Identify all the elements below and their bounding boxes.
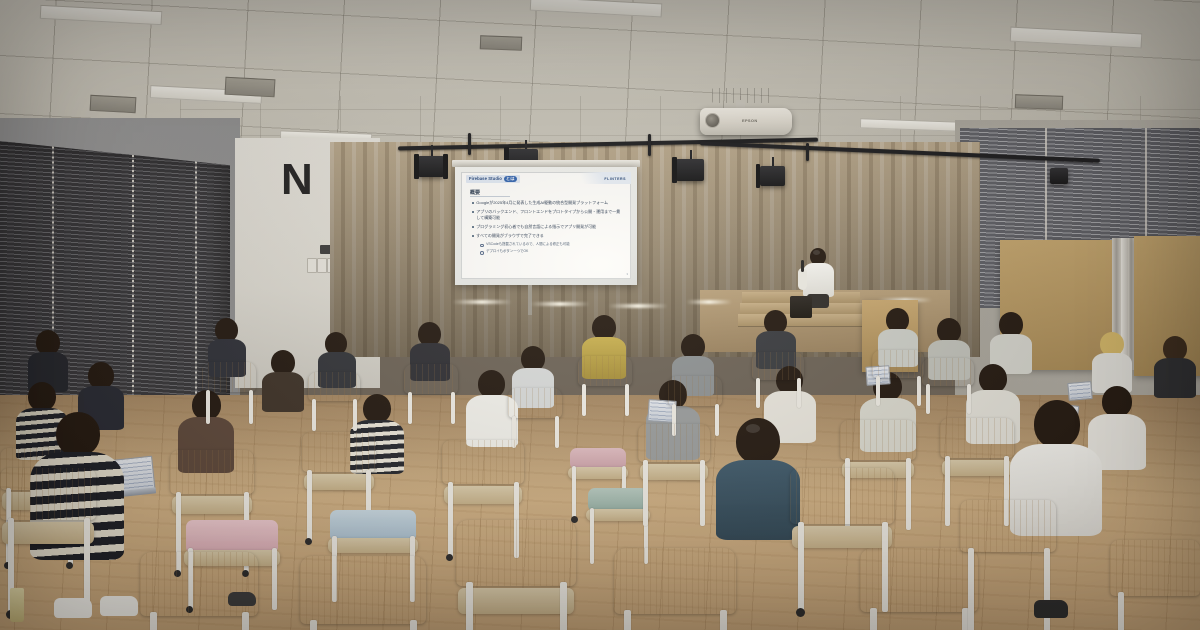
chair-leg <box>466 582 473 630</box>
chair-backrest <box>872 350 924 378</box>
chair-leg <box>720 610 727 630</box>
stage-uplight <box>452 300 512 304</box>
chair-backrest <box>404 364 458 394</box>
slide-company-logo: FLINTERS <box>604 177 626 181</box>
chair-leg <box>876 376 880 406</box>
slide-sub-bullet-text: VSCodeも搭載されているので、人間による修正も可能 <box>486 242 570 248</box>
chair-leg <box>249 390 253 424</box>
chair-seat <box>640 464 708 480</box>
chair-backrest <box>1110 540 1200 596</box>
shoe <box>54 598 92 618</box>
sub-bullet-dot-icon <box>480 251 484 255</box>
ceiling-air-vent <box>1015 94 1063 110</box>
chair-leg <box>206 390 210 424</box>
chair-leg <box>906 458 911 530</box>
attendee-head <box>363 394 391 423</box>
projection-screen: Firebase Studioとは FLINTERS 概要 Googleが202… <box>455 167 637 285</box>
ceiling-air-vent <box>480 35 522 50</box>
attendee-head <box>56 412 100 456</box>
slide-bullet-text: アプリのバックエンド、フロントエンドをプロトタイプから公開・運用まで一貫して構築… <box>476 209 622 221</box>
chair-leg <box>448 482 453 558</box>
light-switch[interactable] <box>317 258 327 273</box>
stage-light-barndoor <box>672 157 677 183</box>
slide-bullet: プログラミング初心者でも自然言語による指示でアプリ開発が可能 <box>472 224 622 230</box>
chair-leg <box>624 610 631 630</box>
chair-leg <box>272 548 277 610</box>
slide-bullet-list: Googleが2025年4月に発表した生成AI駆動の統合型開発プラットフォーム … <box>472 200 622 255</box>
attendee-head <box>1102 386 1132 417</box>
chair-leg <box>560 582 567 630</box>
chair-seat <box>444 486 522 504</box>
chair-seat <box>942 460 1012 476</box>
chair-leg <box>310 620 317 630</box>
slide-bullet: すべての開発がブラウザで完了できる <box>472 233 622 239</box>
handheld-microphone[interactable] <box>801 260 804 272</box>
chair-caster <box>446 554 453 561</box>
attendee-blond <box>1092 332 1132 390</box>
chair-backrest <box>638 424 710 462</box>
water-bottle[interactable] <box>10 588 24 622</box>
projector-brand-label: EPSON <box>742 118 758 123</box>
chair-leg <box>242 612 249 630</box>
ceiling-air-vent <box>225 77 276 98</box>
chair-backrest <box>614 548 736 614</box>
chair-backrest <box>940 418 1014 458</box>
slide-bullet-text: すべての開発がブラウザで完了できる <box>476 233 543 239</box>
slide-sub-bullet: VSCodeも搭載されているので、人間による修正も可能 <box>480 242 622 248</box>
chair-caster <box>796 608 805 617</box>
projection-screen-support <box>528 285 532 315</box>
attendee-foreground <box>716 418 800 538</box>
attendee-head <box>28 382 56 411</box>
chair-backrest <box>508 388 562 418</box>
chair-seat <box>792 526 892 548</box>
attendee-head <box>1034 400 1080 448</box>
chair-caster <box>571 516 578 523</box>
chair-leg <box>582 384 586 416</box>
attendee-head <box>979 364 1007 393</box>
chair-leg <box>870 608 877 630</box>
chair-backrest <box>960 500 1056 552</box>
ceiling-air-vent <box>90 95 137 113</box>
chair-leg <box>967 384 971 414</box>
slide-title-rule <box>470 196 510 197</box>
bullet-dot-icon <box>472 226 474 228</box>
chair-seat-pad <box>186 520 278 554</box>
attendee-torso <box>716 460 800 540</box>
attendee <box>1154 336 1196 394</box>
light-switch[interactable] <box>307 258 317 273</box>
chair-leg <box>408 392 412 424</box>
bullet-dot-icon <box>472 211 474 213</box>
slide-bullet: アプリのバックエンド、フロントエンドをプロトタイプから公開・運用まで一貫して構築… <box>472 209 622 221</box>
chair-leg <box>917 376 921 406</box>
stage-light <box>676 159 704 181</box>
chair-leg <box>945 456 950 526</box>
shoe <box>100 596 138 616</box>
presenter-torso <box>803 263 834 297</box>
chair-backrest <box>860 548 978 612</box>
chair-backrest <box>202 362 256 392</box>
chair-backrest <box>442 440 524 484</box>
shoe <box>228 592 256 606</box>
attendee <box>28 330 68 390</box>
slide-topic-badge: Firebase Studioとは <box>466 175 520 183</box>
chair-leg <box>968 548 974 630</box>
projector-lens <box>705 113 720 128</box>
chair-caster <box>305 538 312 545</box>
sub-bullet-dot-icon <box>480 244 484 248</box>
attendee-hair-highlight <box>746 424 760 433</box>
laptop[interactable] <box>1067 381 1092 401</box>
chair-leg <box>798 522 804 612</box>
chair-leg <box>926 384 930 414</box>
chair-seat <box>2 522 94 544</box>
presentation-slide: Firebase Studioとは FLINTERS 概要 Googleが202… <box>461 172 631 279</box>
chair-backrest <box>840 420 916 460</box>
lighting-truss-vertical <box>806 143 809 161</box>
stage-light <box>418 156 444 177</box>
conference-room-photo: N EPSON <box>0 0 1200 630</box>
lighting-truss-vertical <box>468 133 471 155</box>
chair-backrest <box>578 356 632 386</box>
chair-seat <box>328 538 418 553</box>
attendee-torso <box>1154 358 1196 398</box>
chair-backrest <box>790 468 894 524</box>
chair-caster <box>66 562 73 569</box>
chair-leg <box>410 620 417 630</box>
slide-bullet-text: プログラミング初心者でも自然言語による指示でアプリ開発が可能 <box>476 224 596 230</box>
slide-bullet-text: Googleが2025年4月に発表した生成AI駆動の統合型開発プラットフォーム <box>476 200 608 206</box>
chair-leg <box>700 460 705 526</box>
chair-leg <box>756 378 760 408</box>
chair-leg <box>572 466 576 520</box>
chair-seat <box>458 588 574 614</box>
projection-screen-case <box>452 160 640 167</box>
chair-backrest <box>456 520 576 586</box>
chair-leg <box>643 460 648 526</box>
lighting-truss-vertical <box>648 134 651 156</box>
chair-backrest <box>308 372 360 401</box>
presenter-hair-highlight <box>813 250 820 255</box>
chair-backrest <box>140 552 258 616</box>
chair-leg <box>555 416 559 448</box>
chair-leg <box>625 384 629 416</box>
chair-leg <box>307 470 312 542</box>
chair-leg <box>797 378 801 408</box>
stage-light <box>760 166 785 186</box>
chair-backrest <box>302 432 376 472</box>
chair-backrest <box>170 450 254 494</box>
stage-uplight <box>608 304 668 308</box>
chair-leg <box>1118 592 1124 630</box>
chair-seat <box>304 474 374 490</box>
chair-backrest <box>668 376 722 406</box>
slide-badge-text: Firebase Studio <box>469 176 502 181</box>
stage-light <box>1050 168 1068 184</box>
stage-uplight <box>530 302 590 306</box>
bullet-dot-icon <box>472 235 474 237</box>
slide-sub-bullet: デプロイもボタン一つでOK <box>480 249 622 255</box>
slide-badge-tag: とは <box>504 176 517 182</box>
chair-backrest <box>922 358 974 386</box>
slide-bullet: Googleが2025年4月に発表した生成AI駆動の統合型開発プラットフォーム <box>472 200 622 206</box>
laptop-screen <box>1069 383 1090 399</box>
chair-seat <box>568 467 628 479</box>
chair-seat <box>172 496 252 514</box>
chair-leg <box>882 522 888 612</box>
stage-uplight <box>686 300 732 304</box>
chair-leg <box>353 399 357 431</box>
slide-title: 概要 <box>470 189 480 196</box>
chair-leg <box>312 399 316 431</box>
attendee <box>262 350 304 408</box>
chair-leg <box>590 508 594 564</box>
bullet-dot-icon <box>472 202 474 204</box>
shoe <box>1034 600 1068 618</box>
attendee <box>990 312 1032 370</box>
attendee-head <box>478 370 505 398</box>
chair-backrest <box>300 556 426 624</box>
slide-page-number: 3 <box>627 273 628 276</box>
attendee-head <box>88 362 114 389</box>
chair-backrest <box>0 468 96 520</box>
chair-backrest <box>752 352 804 380</box>
slide-sub-bullet-text: デプロイもボタン一つでOK <box>486 249 528 255</box>
chair-leg <box>451 392 455 424</box>
chair-seat <box>586 509 650 521</box>
wall-letter-n: N <box>281 158 312 202</box>
stage-light-barndoor <box>414 154 419 179</box>
stage-light-barndoor <box>443 154 448 179</box>
chair-leg <box>150 612 157 630</box>
attendee-torso <box>262 372 304 412</box>
stage-light-barndoor <box>756 164 760 188</box>
